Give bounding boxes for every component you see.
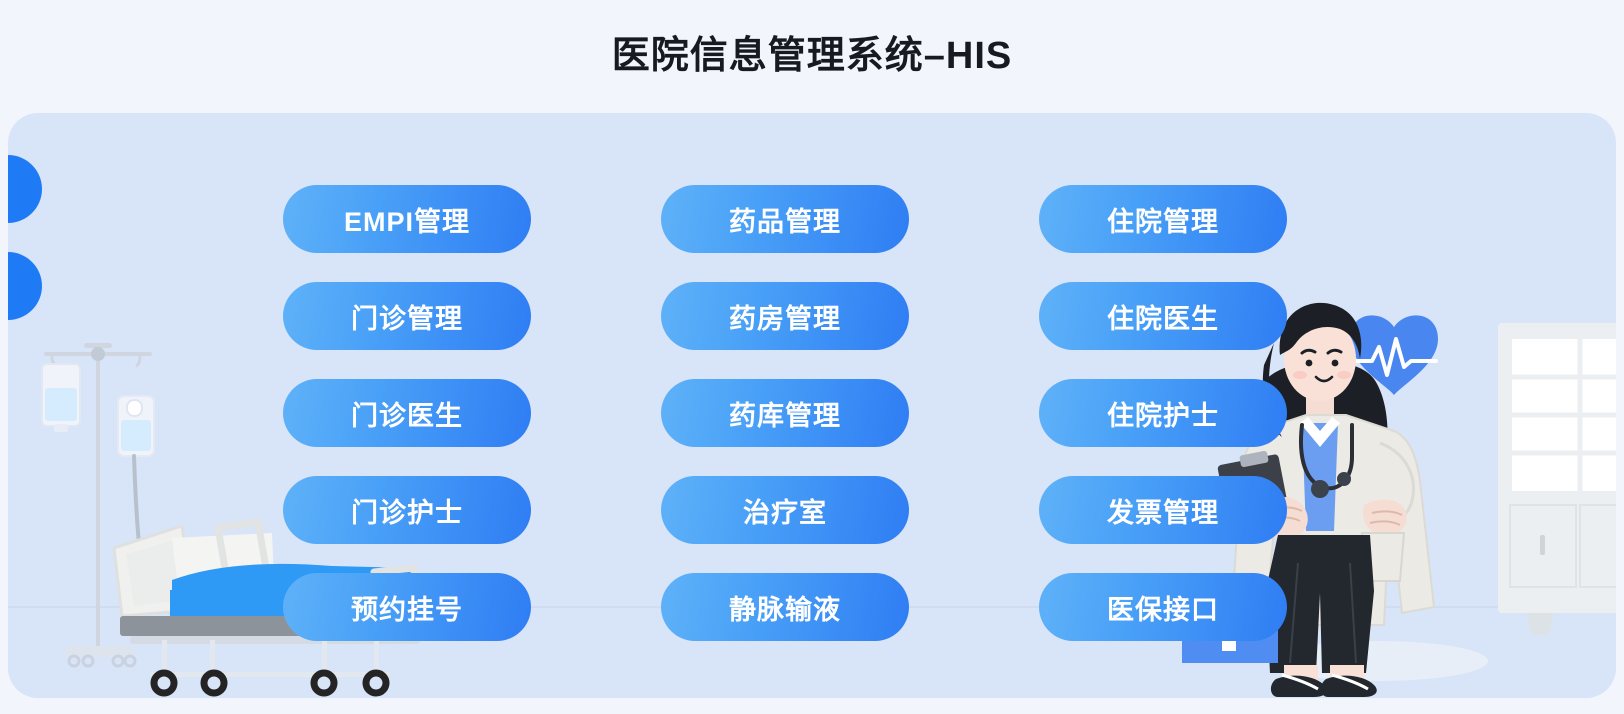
module-button-outpatient-management[interactable]: 门诊管理 xyxy=(283,282,531,350)
module-button-invoice-management[interactable]: 发票管理 xyxy=(1039,476,1287,544)
module-button-insurance-interface[interactable]: 医保接口 xyxy=(1039,573,1287,641)
medicine-cabinet-icon xyxy=(1498,323,1616,635)
decor-circle-1 xyxy=(8,155,42,223)
module-button-empi[interactable]: EMPI管理 xyxy=(283,185,531,253)
module-button-inpatient-nurse[interactable]: 住院护士 xyxy=(1039,379,1287,447)
module-button-drug-warehouse[interactable]: 药库管理 xyxy=(661,379,909,447)
module-button-inpatient-doctor[interactable]: 住院医生 xyxy=(1039,282,1287,350)
module-button-drug-management[interactable]: 药品管理 xyxy=(661,185,909,253)
module-button-pharmacy-management[interactable]: 药房管理 xyxy=(661,282,909,350)
page-root: 医院信息管理系统–HIS xyxy=(0,0,1624,714)
module-button-outpatient-nurse[interactable]: 门诊护士 xyxy=(283,476,531,544)
module-button-treatment-room[interactable]: 治疗室 xyxy=(661,476,909,544)
module-button-grid: EMPI管理 药品管理 住院管理 门诊管理 药房管理 住院医生 门诊医生 药库管… xyxy=(283,185,1287,641)
module-button-appointment[interactable]: 预约挂号 xyxy=(283,573,531,641)
page-title: 医院信息管理系统–HIS xyxy=(0,34,1624,78)
module-button-outpatient-doctor[interactable]: 门诊医生 xyxy=(283,379,531,447)
module-button-iv-infusion[interactable]: 静脉输液 xyxy=(661,573,909,641)
main-panel: EMPI管理 药品管理 住院管理 门诊管理 药房管理 住院医生 门诊医生 药库管… xyxy=(8,113,1616,698)
module-button-inpatient-management[interactable]: 住院管理 xyxy=(1039,185,1287,253)
decor-circle-2 xyxy=(8,252,42,320)
